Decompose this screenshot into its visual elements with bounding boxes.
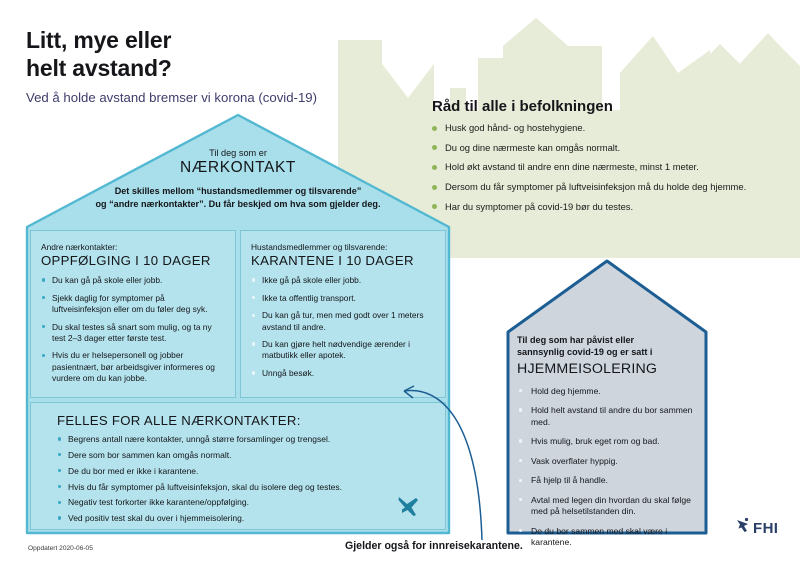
list-item: Dersom du får symptomer på luftveisinfek… xyxy=(432,181,794,193)
pointer-arrow-icon xyxy=(370,378,510,543)
column-karantene: Hustandsmedlemmer og tilsvarende: KARANT… xyxy=(240,230,446,398)
column-list: Du kan gå på skole eller jobb. Sjekk dag… xyxy=(41,275,225,384)
list-item: Ikke ta offentlig transport. xyxy=(251,293,435,304)
list-item: Vask overflater hyppig. xyxy=(517,456,697,468)
bottom-caption: Gjelder også for innreisekarantene. xyxy=(345,540,523,552)
column-heading: KARANTENE I 10 DAGER xyxy=(251,253,435,268)
list-item: Sjekk daglig for symptomer på luftveisin… xyxy=(41,293,225,315)
page-subtitle: Ved å holde avstand bremser vi korona (c… xyxy=(26,89,326,106)
column-heading: OPPFØLGING I 10 DAGER xyxy=(41,253,225,268)
page-title: Litt, mye eller helt avstand? xyxy=(26,26,326,82)
iso-kicker-line1: Til deg som har påvist eller xyxy=(517,335,634,345)
poster-canvas: Litt, mye eller helt avstand? Ved å hold… xyxy=(0,0,800,565)
list-item: Hvis du er helsepersonell og jobber pasi… xyxy=(41,350,225,384)
list-item: Hold økt avstand til andre enn dine nærm… xyxy=(432,161,794,173)
updated-date: Oppdatert 2020-06-05 xyxy=(28,545,93,552)
iso-kicker: Til deg som har påvist eller sannsynlig … xyxy=(517,334,697,359)
iso-kicker-line2: sannsynlig covid-19 og er satt i xyxy=(517,347,652,357)
list-item: Hvis mulig, bruk eget rom og bad. xyxy=(517,436,697,448)
column-list: Ikke gå på skole eller jobb. Ikke ta off… xyxy=(251,275,435,379)
column-kicker: Andre nærkontakter: xyxy=(41,242,225,252)
iso-content: Til deg som har påvist eller sannsynlig … xyxy=(517,334,697,557)
list-item: Hold deg hjemme. xyxy=(517,386,697,398)
list-item: Få hjelp til å handle. xyxy=(517,475,697,487)
list-item: Du og dine nærmeste kan omgås normalt. xyxy=(432,142,794,154)
fhi-logo-text: FHI xyxy=(753,520,778,537)
list-item: Husk god hånd- og hostehygiene. xyxy=(432,122,794,134)
fhi-logo: FHI xyxy=(735,515,793,539)
column-kicker: Hustandsmedlemmer og tilsvarende: xyxy=(251,242,435,252)
list-item: Hold helt avstand til andre du bor samme… xyxy=(517,405,697,428)
advice-panel: Råd til alle i befolkningen Husk god hån… xyxy=(432,98,794,221)
advice-list: Husk god hånd- og hostehygiene. Du og di… xyxy=(432,122,794,213)
column-oppfolging: Andre nærkontakter: OPPFØLGING I 10 DAGE… xyxy=(30,230,236,398)
list-item: Har du symptomer på covid-19 bør du test… xyxy=(432,201,794,213)
house-hjemmeisolering: Til deg som har påvist eller sannsynlig … xyxy=(497,258,717,536)
roof-kicker: Til deg som er xyxy=(24,148,452,158)
roof-desc-line2: og “andre nærkontakter”. Du får beskjed … xyxy=(95,199,380,209)
list-item: Du kan gjøre helt nødvendige ærender i m… xyxy=(251,339,435,361)
list-item: Avtal med legen din hvordan du skal følg… xyxy=(517,495,697,518)
iso-heading: HJEMMEISOLERING xyxy=(517,361,697,377)
page-title-line1: Litt, mye eller xyxy=(26,27,171,53)
roof-text-block: Til deg som er NÆRKONTAKT Det skilles me… xyxy=(24,148,452,210)
roof-title: NÆRKONTAKT xyxy=(24,159,452,177)
advice-heading: Råd til alle i befolkningen xyxy=(432,98,794,115)
roof-description: Det skilles mellom “hustandsmedlemmer og… xyxy=(24,185,452,210)
title-block: Litt, mye eller helt avstand? Ved å hold… xyxy=(26,26,326,107)
fhi-bird-icon xyxy=(737,518,748,532)
list-item: Ikke gå på skole eller jobb. xyxy=(251,275,435,286)
list-item: Du skal testes så snart som mulig, og ta… xyxy=(41,322,225,344)
list-item: Du kan gå tur, men med godt over 1 meter… xyxy=(251,310,435,332)
roof-desc-line1: Det skilles mellom “hustandsmedlemmer og… xyxy=(115,186,362,196)
house-columns: Andre nærkontakter: OPPFØLGING I 10 DAGE… xyxy=(30,230,446,398)
page-title-line2: helt avstand? xyxy=(26,55,172,81)
list-item: De du bor sammen med skal være i karante… xyxy=(517,526,697,549)
iso-list: Hold deg hjemme. Hold helt avstand til a… xyxy=(517,386,697,549)
list-item: Du kan gå på skole eller jobb. xyxy=(41,275,225,286)
